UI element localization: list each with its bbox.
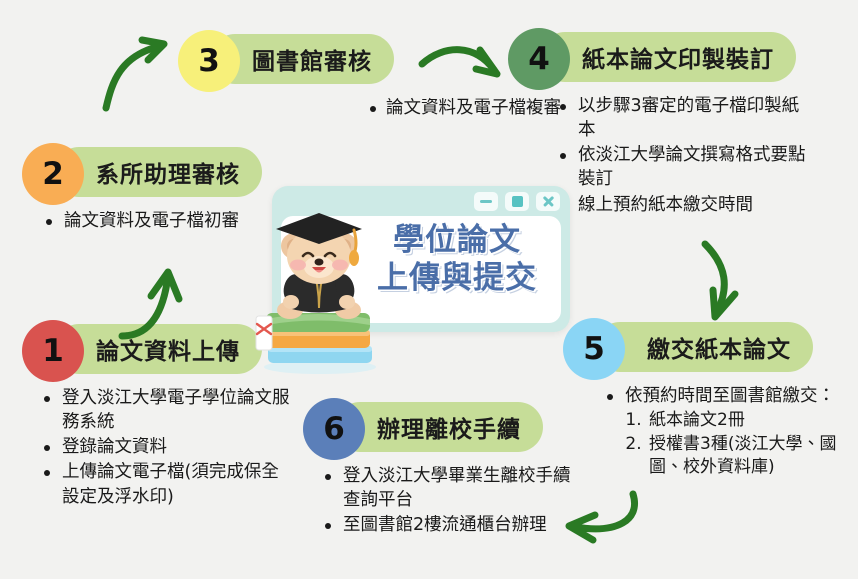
step-6-bullets: 登入淡江大學畢業生離校手續查詢平台 至圖書館2樓流通櫃台辦理 — [321, 464, 571, 537]
window-title-line1: 學位論文 — [359, 222, 555, 260]
step-5-number: 5 — [563, 318, 625, 380]
list-item: 依淡江大學論文撰寫格式要點裝訂 — [556, 143, 808, 191]
step-4-title: 紙本論文印製裝訂 — [540, 32, 796, 82]
step-5-header: 繳交紙本論文 5 — [563, 318, 855, 376]
step-2-header: 系所助理審核 2 — [22, 143, 282, 201]
step-4-header: 紙本論文印製裝訂 4 — [508, 28, 808, 86]
step-1-title: 論文資料上傳 — [54, 324, 262, 374]
step-1-number: 1 — [22, 320, 84, 382]
step-6-title: 辦理離校手續 — [335, 402, 543, 452]
list-item: 以步驟3審定的電子檔印製紙本 — [556, 94, 808, 142]
arrow-step2-to-step3 — [98, 32, 188, 112]
step-6: 辦理離校手續 6 登入淡江大學畢業生離校手續查詢平台 至圖書館2樓流通櫃台辦理 — [303, 398, 571, 538]
minimize-icon[interactable] — [474, 192, 498, 211]
list-item: 上傳論文電子檔(須完成保全設定及浮水印) — [40, 460, 290, 508]
step-5-title: 繳交紙本論文 — [595, 322, 813, 372]
list-item: 論文資料及電子檔初審 — [42, 209, 282, 233]
step-6-number: 6 — [303, 398, 365, 460]
step-2-number: 2 — [22, 143, 84, 205]
step-1-bullets: 登入淡江大學電子學位論文服務系統 登錄論文資料 上傳論文電子檔(須完成保全設定及… — [40, 386, 290, 509]
arrow-step4-to-step5 — [655, 240, 745, 330]
list-item: 依預約時間至圖書館繳交： — [603, 384, 855, 408]
list-item: 至圖書館2樓流通櫃台辦理 — [321, 513, 571, 537]
window-title-line2: 上傳與提交 — [359, 260, 555, 298]
step-5-bullets: 依預約時間至圖書館繳交： 紙本論文2冊 授權書3種(淡江大學、國圖、校外資料庫) — [603, 384, 855, 480]
step-3: 圖書館審核 3 論文資料及電子檔複審 — [178, 30, 448, 121]
close-icon[interactable] — [536, 192, 560, 211]
step-3-bullets: 論文資料及電子檔複審 — [366, 96, 448, 120]
step-5-sub-items: 紙本論文2冊 授權書3種(淡江大學、國圖、校外資料庫) — [625, 409, 855, 479]
window-controls — [474, 192, 560, 211]
sub-list-item: 紙本論文2冊 — [647, 409, 855, 432]
sub-list-item: 授權書3種(淡江大學、國圖、校外資料庫) — [647, 433, 855, 480]
list-item-sublist: 紙本論文2冊 授權書3種(淡江大學、國圖、校外資料庫) — [603, 409, 855, 479]
infographic-canvas: 圖書館審核 3 論文資料及電子檔複審 紙本論文印製裝訂 4 以步驟3審定的電子檔… — [0, 0, 858, 579]
step-4-bullets: 以步驟3審定的電子檔印製紙本 依淡江大學論文撰寫格式要點裝訂 線上預約紙本繳交時… — [556, 94, 808, 217]
list-item: 登錄論文資料 — [40, 435, 290, 459]
step-2: 系所助理審核 2 論文資料及電子檔初審 — [22, 143, 282, 234]
graduation-bear-icon — [254, 204, 382, 374]
step-1: 論文資料上傳 1 登入淡江大學電子學位論文服務系統 登錄論文資料 上傳論文電子檔… — [22, 320, 292, 510]
maximize-icon[interactable] — [505, 192, 529, 211]
list-item: 登入淡江大學電子學位論文服務系統 — [40, 386, 290, 434]
window-title-text: 學位論文 上傳與提交 — [359, 222, 555, 298]
step-2-title: 系所助理審核 — [54, 147, 262, 197]
step-4-number: 4 — [508, 28, 570, 90]
list-item: 登入淡江大學畢業生離校手續查詢平台 — [321, 464, 571, 512]
step-3-number: 3 — [178, 30, 240, 92]
step-6-header: 辦理離校手續 6 — [303, 398, 571, 456]
center-window-illustration: 學位論文 上傳與提交 — [272, 186, 570, 332]
list-item: 論文資料及電子檔複審 — [366, 96, 448, 120]
step-5: 繳交紙本論文 5 依預約時間至圖書館繳交： 紙本論文2冊 授權書3種(淡江大學、… — [563, 318, 855, 481]
step-1-header: 論文資料上傳 1 — [22, 320, 292, 378]
step-2-bullets: 論文資料及電子檔初審 — [42, 209, 282, 233]
step-3-header: 圖書館審核 3 — [178, 30, 448, 88]
list-item: 線上預約紙本繳交時間 — [556, 193, 808, 217]
